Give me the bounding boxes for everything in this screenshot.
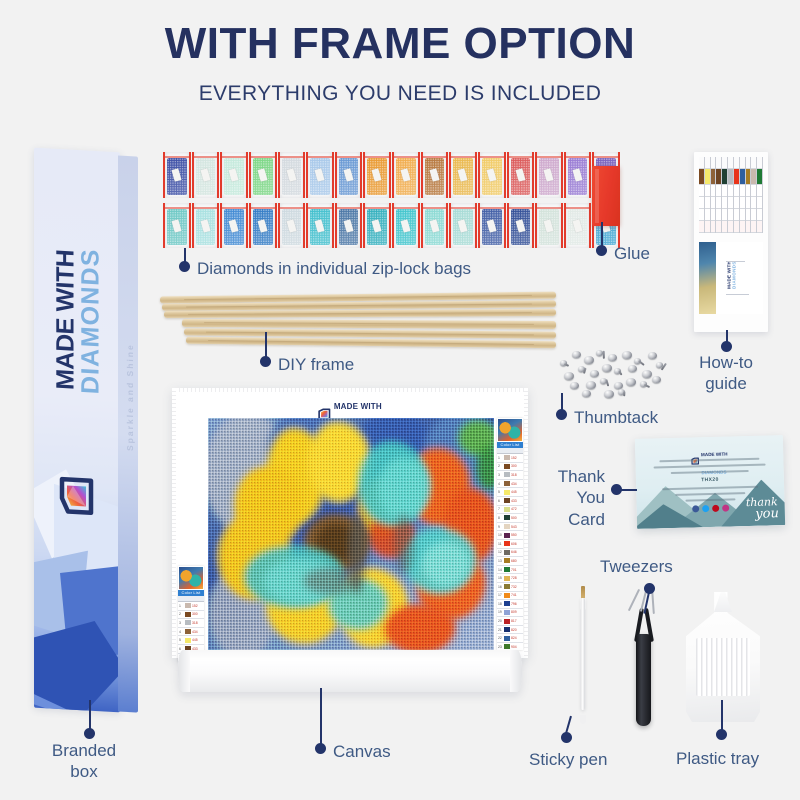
guide-table-cell	[705, 197, 710, 209]
legend-dmc-code: 817	[511, 619, 517, 623]
pinterest-icon	[712, 505, 719, 512]
legend-row-number: 12	[498, 550, 503, 554]
legend-color-swatch	[504, 550, 510, 555]
guide-table-cell	[740, 185, 745, 197]
legend-row-number: 23	[498, 645, 503, 649]
legend-dmc-code: 824	[511, 636, 517, 640]
legend-dmc-code: 445	[511, 490, 517, 494]
sticky-pen	[578, 586, 588, 724]
zip-seal	[194, 156, 218, 158]
legend-dmc-code: 300	[192, 612, 198, 616]
thumbtack	[602, 364, 612, 372]
guide-color-table	[699, 157, 763, 233]
legend-dmc-code: 820	[511, 628, 517, 632]
guide-table-cell	[711, 157, 716, 169]
zip-lock-bag	[507, 152, 535, 198]
thumbtack	[614, 382, 623, 389]
artwork-diamond-dots	[208, 418, 494, 650]
callout-label-thumbtack: Thumbtack	[574, 407, 658, 428]
guide-table-cell	[746, 197, 751, 209]
guide-table-cell	[722, 221, 727, 233]
zip-lock-bag	[564, 203, 592, 248]
card-logo-top: MADE WITH	[701, 452, 728, 458]
legend-color-swatch	[504, 490, 510, 495]
zip-seal	[509, 207, 533, 209]
guide-table-cell	[734, 157, 739, 169]
tweezer-tip	[628, 589, 640, 611]
facebook-icon	[692, 505, 699, 512]
zip-lock-bag	[335, 203, 363, 248]
callout-dot-diamond-bags	[179, 261, 190, 272]
thumbtack	[572, 351, 581, 358]
legend-dmc-code: 433	[511, 499, 517, 503]
thank-you-card: MADE WITH DIAMONDS THX20 thank you	[635, 435, 785, 529]
zip-lock-bag	[421, 152, 449, 198]
guide-table-cell	[722, 197, 727, 209]
legend-color-swatch	[504, 472, 510, 477]
legend-row: 1152	[178, 602, 204, 611]
legend-row: 4434	[497, 480, 523, 489]
guide-logo-bottom: DIAMONDS	[732, 261, 737, 289]
thank-you-label-line1: Thank You	[558, 467, 605, 507]
thank-you-label-line2: Card	[568, 510, 605, 529]
guide-table-cell	[716, 197, 721, 209]
legend-row: 9543	[497, 523, 523, 532]
thumbtack	[628, 365, 637, 372]
thumbtack	[596, 350, 603, 356]
legend-row: 6433	[497, 497, 523, 506]
legend-dmc-code: 904	[511, 645, 517, 649]
zip-seal	[394, 207, 418, 209]
legend-row: 4434	[178, 628, 204, 637]
legend-row: 12646	[497, 549, 523, 558]
guide-logo: MADE WITH DIAMONDS	[728, 261, 737, 289]
callout-label-diy-frame: DIY frame	[278, 354, 354, 375]
zip-seal	[423, 156, 447, 158]
legend-row-number: 1	[498, 456, 503, 460]
diamond-bags-row-bottom	[163, 203, 620, 248]
guide-table-cell	[740, 197, 745, 209]
legend-color-swatch	[504, 610, 510, 615]
guide-table-cell	[716, 209, 721, 221]
brand-tagline: Sparkle and Shine	[125, 267, 135, 528]
legend-row: 21820	[497, 626, 523, 635]
legend-row-number: 14	[498, 568, 503, 572]
brand-name-top: MADE WITH	[54, 199, 79, 440]
zip-seal	[308, 207, 332, 209]
callout-label-how-to-guide: How-to guide	[676, 352, 776, 395]
legend-row-number: 7	[498, 507, 503, 511]
guide-table-cell	[757, 209, 762, 221]
guide-table-cell	[705, 169, 710, 185]
legend-row: 22824	[497, 634, 523, 643]
thumbtack	[652, 376, 661, 383]
legend-color-swatch	[504, 541, 510, 546]
guide-table-cell	[751, 185, 756, 197]
zip-lock-bag	[478, 203, 506, 248]
zip-lock-bag	[535, 152, 563, 198]
thumbtack-pin	[606, 379, 609, 386]
zip-lock-bag	[478, 152, 506, 198]
guide-table-cell	[699, 221, 704, 233]
legend-color-swatch	[185, 629, 191, 634]
legend-row: 11606	[497, 540, 523, 549]
legend-row: 10550	[497, 531, 523, 540]
legend-row-number: 4	[179, 630, 184, 634]
legend-dmc-code: 680	[511, 559, 517, 563]
frame-bar	[186, 337, 556, 349]
guide-text-line	[726, 294, 749, 295]
guide-table-cell	[722, 209, 727, 221]
legend-row: 13680	[497, 557, 523, 566]
guide-table-cell	[716, 169, 721, 185]
zip-lock-bag	[535, 203, 563, 248]
guide-table-cell	[734, 169, 739, 185]
leader-line-canvas	[320, 688, 322, 746]
guide-table-cell	[711, 209, 716, 221]
zip-seal	[194, 207, 218, 209]
zip-seal	[594, 156, 618, 158]
guide-table-cell	[757, 185, 762, 197]
color-list-panel-left: Color List115223003318443454456433747285…	[178, 566, 204, 662]
zip-seal	[165, 156, 189, 158]
branded-box-wordmark: MADE WITH DIAMONDS	[54, 199, 103, 442]
zip-lock-bag	[335, 152, 363, 198]
zip-lock-bag	[564, 152, 592, 198]
callout-label-sticky-pen: Sticky pen	[529, 749, 607, 770]
zip-seal	[165, 207, 189, 209]
thumbtack	[584, 356, 594, 364]
guide-table-cell	[746, 209, 751, 221]
thumbtack-pin	[624, 391, 626, 396]
guide-table-cell	[751, 197, 756, 209]
canvas-artwork	[208, 418, 494, 650]
instagram-icon	[722, 505, 729, 512]
legend-dmc-code: 318	[511, 473, 517, 477]
legend-row-number: 5	[498, 490, 503, 494]
infographic-stage: WITH FRAME OPTION EVERYTHING YOU NEED IS…	[0, 0, 800, 800]
legend-color-swatch	[504, 507, 510, 512]
canvas-logo-top: MADE WITH	[334, 402, 382, 411]
legend-color-swatch	[504, 533, 510, 538]
legend-row: 18796	[497, 600, 523, 609]
page-title: WITH FRAME OPTION	[0, 22, 800, 66]
guide-cover: MADE WITH DIAMONDS	[699, 242, 763, 314]
legend-row: 1152	[497, 454, 523, 463]
leader-line-plastic-tray	[721, 700, 723, 732]
guide-table-cell	[757, 221, 762, 233]
zip-seal	[480, 207, 504, 209]
legend-color-swatch	[185, 603, 191, 608]
legend-row-number: 13	[498, 559, 503, 563]
zip-seal	[365, 207, 389, 209]
zip-lock-bag	[363, 152, 391, 198]
legend-color-swatch	[504, 593, 510, 598]
tweezer-handle	[636, 634, 651, 726]
diamond-bags-row-top	[163, 152, 620, 198]
zip-seal	[537, 156, 561, 158]
guide-table-cell	[740, 221, 745, 233]
zip-lock-bag	[363, 203, 391, 248]
legend-row-number: 4	[498, 482, 503, 486]
legend-row: 17741	[497, 592, 523, 601]
legend-dmc-code: 318	[192, 621, 198, 625]
guide-table-cell	[740, 169, 745, 185]
zip-lock-bag	[192, 152, 220, 198]
leader-line-sticky-pen	[565, 716, 571, 734]
legend-dmc-code: 550	[511, 533, 517, 537]
legend-dmc-code: 809	[511, 610, 517, 614]
legend-color-swatch	[504, 601, 510, 606]
guide-table-cell	[699, 169, 704, 185]
legend-color-swatch	[504, 515, 510, 520]
thumbtack	[586, 381, 596, 389]
guide-table-cell	[757, 197, 762, 209]
legend-thumbnail	[179, 567, 203, 589]
legend-color-swatch	[504, 567, 510, 572]
branded-box-front: MADE WITH DIAMONDS	[34, 148, 120, 713]
legend-dmc-code: 152	[192, 604, 198, 608]
guide-table-cell	[728, 157, 733, 169]
guide-table-cell	[728, 185, 733, 197]
guide-table-cell	[746, 169, 751, 185]
thumbtack	[570, 382, 579, 389]
zip-seal	[509, 156, 533, 158]
branded-box-label-line1: Branded	[52, 741, 116, 760]
guide-table-cell	[728, 209, 733, 221]
guide-table-cell	[699, 185, 704, 197]
legend-row-number: 8	[498, 516, 503, 520]
brand-name-bottom: DIAMONDS	[78, 201, 103, 442]
legend-row: 15728	[497, 574, 523, 583]
legend-title: Color List	[497, 442, 523, 448]
how-to-label-line2: guide	[705, 374, 747, 393]
page-subtitle: EVERYTHING YOU NEED IS INCLUDED	[0, 82, 800, 106]
guide-table-cell	[716, 157, 721, 169]
guide-table-cell	[751, 209, 756, 221]
thumbtack-pin	[584, 367, 587, 373]
callout-dot-diy-frame	[260, 356, 271, 367]
callout-label-branded-box: Branded box	[29, 740, 139, 783]
legend-color-swatch	[504, 644, 510, 649]
branded-box-label-line2: box	[70, 762, 97, 781]
guide-table-cell	[757, 169, 762, 185]
legend-color-swatch	[504, 576, 510, 581]
zip-lock-bag	[449, 152, 477, 198]
callout-dot-canvas	[315, 743, 326, 754]
zip-seal	[251, 207, 275, 209]
tweezer-tip	[651, 590, 655, 614]
legend-row: 20817	[497, 617, 523, 626]
legend-color-swatch	[504, 464, 510, 469]
zip-lock-bag	[392, 203, 420, 248]
legend-dmc-code: 728	[511, 576, 517, 580]
callout-dot-plastic-tray	[716, 729, 727, 740]
zip-seal	[480, 156, 504, 158]
legend-dmc-code: 434	[511, 482, 517, 486]
thumbtack	[604, 390, 614, 398]
legend-row: 5445	[178, 636, 204, 645]
frame-bar	[164, 309, 556, 318]
zip-lock-bag	[163, 152, 191, 198]
legend-row: 5445	[497, 488, 523, 497]
legend-row-number: 10	[498, 533, 503, 537]
legend-dmc-code: 300	[511, 464, 517, 468]
legend-row: 7472	[497, 506, 523, 515]
zip-lock-bag	[278, 152, 306, 198]
diamond-gem-icon	[58, 475, 98, 517]
zip-seal	[451, 156, 475, 158]
legend-row: 3318	[497, 471, 523, 480]
guide-table-cell	[728, 169, 733, 185]
legend-row-number: 6	[498, 499, 503, 503]
guide-table-cell	[751, 169, 756, 185]
thumbtack	[626, 378, 636, 386]
zip-seal	[222, 207, 246, 209]
zip-seal	[566, 156, 590, 158]
pen-body	[581, 598, 585, 710]
guide-table-cell	[734, 221, 739, 233]
guide-table-cell	[705, 221, 710, 233]
callout-label-canvas: Canvas	[333, 741, 391, 762]
legend-row: 8500	[497, 514, 523, 523]
legend-row-number: 3	[179, 621, 184, 625]
legend-row-number: 22	[498, 636, 503, 640]
legend-color-swatch	[504, 558, 510, 563]
legend-color-swatch	[504, 455, 510, 460]
thumbtack	[590, 370, 599, 377]
thumbtack	[648, 352, 657, 359]
legend-color-swatch	[504, 627, 510, 632]
guide-table-cell	[711, 185, 716, 197]
legend-dmc-code: 701	[511, 568, 517, 572]
zip-lock-bag	[163, 203, 191, 248]
branded-box-side: Sparkle and Shine	[118, 155, 138, 712]
guide-table-cell	[746, 185, 751, 197]
legend-color-swatch	[504, 636, 510, 641]
thumbtack	[622, 351, 632, 359]
guide-table-cell	[740, 209, 745, 221]
zip-seal	[451, 207, 475, 209]
frame-bar	[182, 319, 556, 329]
zip-lock-bag	[249, 152, 277, 198]
thumbtack	[642, 370, 652, 378]
zip-seal	[423, 207, 447, 209]
legend-dmc-code: 741	[511, 593, 517, 597]
callout-dot-thumbtack	[556, 409, 567, 420]
guide-table-column	[757, 157, 763, 233]
tray-ribs	[696, 638, 750, 696]
legend-dmc-code: 796	[511, 602, 517, 606]
thumbtack-pin	[603, 350, 605, 358]
pen-end-cap	[580, 715, 585, 724]
legend-row: 2300	[497, 463, 523, 472]
zip-lock-bag	[507, 203, 535, 248]
zip-seal	[337, 207, 361, 209]
legend-dmc-code: 434	[192, 630, 198, 634]
zip-lock-bag	[278, 203, 306, 248]
legend-row-number: 3	[498, 473, 503, 477]
guide-table-cell	[705, 209, 710, 221]
leader-line-thank-you	[621, 489, 637, 491]
legend-dmc-code: 500	[511, 516, 517, 520]
zip-seal	[222, 156, 246, 158]
legend-thumbnail	[498, 419, 522, 441]
canvas-roll	[178, 650, 522, 692]
zip-lock-bag	[449, 203, 477, 248]
thumbtack	[564, 372, 574, 380]
thumbtack	[582, 390, 591, 397]
guide-table-cell	[734, 209, 739, 221]
legend-color-swatch	[504, 584, 510, 589]
callout-dot-thank-you	[611, 484, 622, 495]
legend-row-number: 17	[498, 593, 503, 597]
canvas-sheet: MADE WITH DIAMONDS Color List11522300331…	[172, 388, 528, 658]
how-to-guide: MADE WITH DIAMONDS	[694, 152, 768, 332]
legend-dmc-code: 732	[511, 585, 517, 589]
guide-text-line	[726, 261, 745, 262]
legend-row-number: 5	[179, 638, 184, 642]
zip-seal	[280, 156, 304, 158]
callout-dot-tweezers	[644, 583, 655, 594]
zip-seal	[394, 156, 418, 158]
diy-frame-bars	[158, 294, 558, 356]
callout-label-thank-you: Thank You Card	[533, 466, 605, 530]
legend-row-number: 11	[498, 542, 503, 546]
zip-seal	[251, 156, 275, 158]
card-thank-you-script: thank you	[745, 497, 779, 521]
guide-table-cell	[751, 221, 756, 233]
zip-seal	[566, 207, 590, 209]
legend-dmc-code: 543	[511, 525, 517, 529]
legend-dmc-code: 606	[511, 542, 517, 546]
legend-row-number: 18	[498, 602, 503, 606]
legend-row: 2300	[178, 611, 204, 620]
guide-table-cell	[699, 209, 704, 221]
guide-table-cell	[746, 157, 751, 169]
guide-table-cell	[699, 157, 704, 169]
guide-table-cell	[705, 157, 710, 169]
callout-label-glue: Glue	[614, 243, 650, 264]
branded-box: MADE WITH DIAMONDS Sparkl	[34, 150, 144, 720]
legend-dmc-code: 152	[511, 456, 517, 460]
legend-color-swatch	[185, 638, 191, 643]
legend-dmc-code: 646	[511, 550, 517, 554]
color-list-panel-right: Color List115223003318443454456433747285…	[497, 418, 523, 650]
legend-row-number: 16	[498, 585, 503, 589]
card-discount-code: THX20	[701, 477, 719, 483]
glue-bottle	[592, 166, 620, 226]
guide-table-cell	[722, 157, 727, 169]
legend-row-number: 21	[498, 628, 503, 632]
legend-row-number: 15	[498, 576, 503, 580]
guide-table-cell	[705, 185, 710, 197]
card-social-icons	[692, 505, 729, 513]
guide-table-cell	[734, 185, 739, 197]
legend-color-swatch	[504, 481, 510, 486]
guide-table-cell	[711, 197, 716, 209]
callout-label-tweezers: Tweezers	[600, 556, 673, 577]
legend-row: 16732	[497, 583, 523, 592]
zip-lock-bag	[220, 203, 248, 248]
guide-table-cell	[711, 169, 716, 185]
legend-row: 3318	[178, 619, 204, 628]
guide-cover-image	[699, 242, 716, 314]
zip-lock-bag	[192, 203, 220, 248]
zip-lock-bag	[306, 203, 334, 248]
how-to-label-line1: How-to	[699, 353, 753, 372]
zip-seal	[337, 156, 361, 158]
